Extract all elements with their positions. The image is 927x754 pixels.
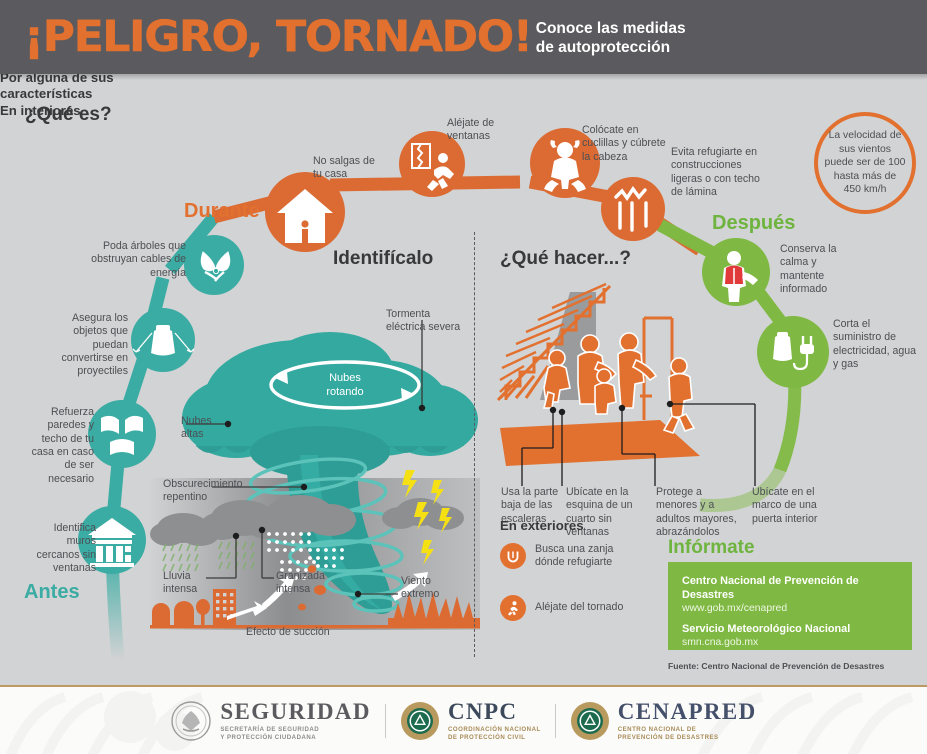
logo-seguridad-sub2: Y PROTECCIÓN CIUDADANA bbox=[220, 734, 371, 742]
callout-tormenta-electrica: Tormenta eléctrica severa bbox=[386, 308, 464, 335]
phase-label-durante: Durante bbox=[184, 200, 260, 223]
ditch-icon bbox=[500, 543, 526, 569]
callout-viento-extremo: Viento extremo bbox=[401, 575, 459, 602]
circle-despues-calma[interactable] bbox=[702, 238, 770, 306]
despues-label-calma: Conserva la calma y mantente informado bbox=[780, 243, 860, 296]
logo-cnpc: CNPC COORDINACIÓN NACIONAL DE PROTECCIÓN… bbox=[400, 700, 541, 742]
logo-seguridad: SEGURIDAD SECRETARÍA DE SEGURIDAD Y PROT… bbox=[170, 700, 371, 742]
callout-lluvia-intensa: Lluvia intensa bbox=[163, 570, 213, 597]
despues-label-corta: Corta el suministro de electricidad, agu… bbox=[833, 318, 919, 371]
infographic-page: ¡PELIGRO, TORNADO! Conoce las medidas de… bbox=[0, 0, 927, 754]
que-hacer-title: ¿Qué hacer...? bbox=[500, 248, 631, 270]
logo-cnpc-sub1: COORDINACIÓN NACIONAL bbox=[448, 726, 541, 734]
en-exteriores-title: En exteriores bbox=[500, 518, 584, 533]
callout-nubes-rotando: Nubes rotando bbox=[314, 372, 376, 400]
informate-box: Centro Nacional de Prevención de Desastr… bbox=[668, 562, 912, 650]
logo-divider-1 bbox=[385, 704, 386, 738]
durante-label-alejate: Aléjate de ventanas bbox=[447, 117, 525, 144]
logo-seguridad-sub: SECRETARÍA DE SEGURIDAD Y PROTECCIÓN CIU… bbox=[220, 726, 371, 742]
logo-cenapred-sub2: PREVENCIÓN DE DESASTRES bbox=[618, 734, 757, 742]
logo-divider-2 bbox=[555, 704, 556, 738]
logo-cnpc-sub2: DE PROTECCIÓN CIVIL bbox=[448, 734, 541, 742]
phase-label-antes: Antes bbox=[24, 581, 80, 604]
circle-antes-poda[interactable] bbox=[184, 235, 244, 295]
circle-durante-nosalgas[interactable] bbox=[265, 172, 345, 252]
callout-obscurecimiento: Obscurecimiento repentino bbox=[163, 478, 259, 505]
logo-cenapred-word: CENAPRED bbox=[618, 700, 757, 723]
durante-label-nosalgas: No salgas de tu casa bbox=[313, 155, 385, 182]
cnpc-seal-icon bbox=[400, 701, 440, 741]
informate-entry-0-name: Centro Nacional de Prevención de Desastr… bbox=[682, 575, 898, 602]
durante-label-lamina: Evita refugiarte en construcciones liger… bbox=[671, 146, 765, 199]
logo-cnpc-sub: COORDINACIÓN NACIONAL DE PROTECCIÓN CIVI… bbox=[448, 726, 541, 742]
logo-seguridad-sub1: SECRETARÍA DE SEGURIDAD bbox=[220, 726, 371, 734]
exterior-item-alejate[interactable]: Aléjate del tornado bbox=[500, 595, 645, 621]
informate-title: Infórmate bbox=[668, 537, 755, 559]
wind-speed-bubble: La velocidad de sus vientos puede ser de… bbox=[814, 112, 916, 214]
eagle-seal-icon bbox=[170, 700, 212, 742]
logo-seguridad-word: SEGURIDAD bbox=[220, 700, 371, 723]
circle-antes-refuerza[interactable] bbox=[88, 400, 156, 468]
callout-efecto-succion: Efecto de succión bbox=[246, 626, 386, 639]
logo-cnpc-word: CNPC bbox=[448, 700, 541, 723]
logo-cenapred-sub1: CENTRO NACIONAL DE bbox=[618, 726, 757, 734]
source-credit: Fuente: Centro Nacional de Prevención de… bbox=[668, 661, 884, 672]
identificalo-title: Identifícalo bbox=[333, 248, 433, 270]
circle-despues-corta[interactable] bbox=[757, 316, 829, 388]
que-es-title: ¿Qué es? bbox=[25, 104, 112, 126]
section-divider bbox=[474, 232, 475, 657]
antes-label-identifica: Identifica muros cercanos sin ventanas bbox=[26, 522, 96, 575]
phase-label-despues: Después bbox=[712, 212, 795, 235]
callout-nubes-altas: Nubes altas bbox=[181, 415, 231, 442]
antes-label-refuerza: Refuerza paredes y techo de tu casa en c… bbox=[22, 406, 94, 486]
exterior-item-zanja[interactable]: Busca una zanja dónde refugiarte bbox=[500, 543, 627, 570]
cenapred-seal-icon bbox=[570, 701, 610, 741]
exterior-item-alejate-label: Aléjate del tornado bbox=[535, 601, 645, 614]
logo-cenapred-sub: CENTRO NACIONAL DE PREVENCIÓN DE DESASTR… bbox=[618, 726, 757, 742]
callout-granizada-intensa: Granizada intensa bbox=[276, 570, 342, 597]
informate-entry-1-url[interactable]: smn.cna.gob.mx bbox=[682, 636, 898, 650]
running-person-icon bbox=[500, 595, 526, 621]
antes-label-asegura: Asegura los objetos que puedan convertir… bbox=[56, 312, 128, 379]
page-footer: SEGURIDAD SECRETARÍA DE SEGURIDAD Y PROT… bbox=[0, 685, 927, 754]
interior-illustration bbox=[498, 284, 755, 486]
exterior-item-zanja-label: Busca una zanja dónde refugiarte bbox=[535, 543, 627, 570]
antes-label-poda: Poda árboles que obstruyan cables de ene… bbox=[90, 240, 186, 280]
circle-antes-asegura[interactable] bbox=[131, 308, 195, 372]
interior-item-puerta: Ubícate en el marco de una puerta interi… bbox=[752, 486, 824, 526]
durante-label-cuclillas: Colócate en cuclillas y cúbrete la cabez… bbox=[582, 124, 666, 164]
interior-item-menores: Protege a menores y a adultos mayores, a… bbox=[656, 486, 744, 539]
circle-durante-lamina[interactable] bbox=[601, 177, 665, 241]
logo-cenapred: CENAPRED CENTRO NACIONAL DE PREVENCIÓN D… bbox=[570, 700, 757, 742]
informate-entry-1-name: Servicio Meteorológico Nacional bbox=[682, 623, 898, 637]
wind-speed-text: La velocidad de sus vientos puede ser de… bbox=[818, 129, 912, 197]
informate-entry-0-url[interactable]: www.gob.mx/cenapred bbox=[682, 602, 898, 616]
